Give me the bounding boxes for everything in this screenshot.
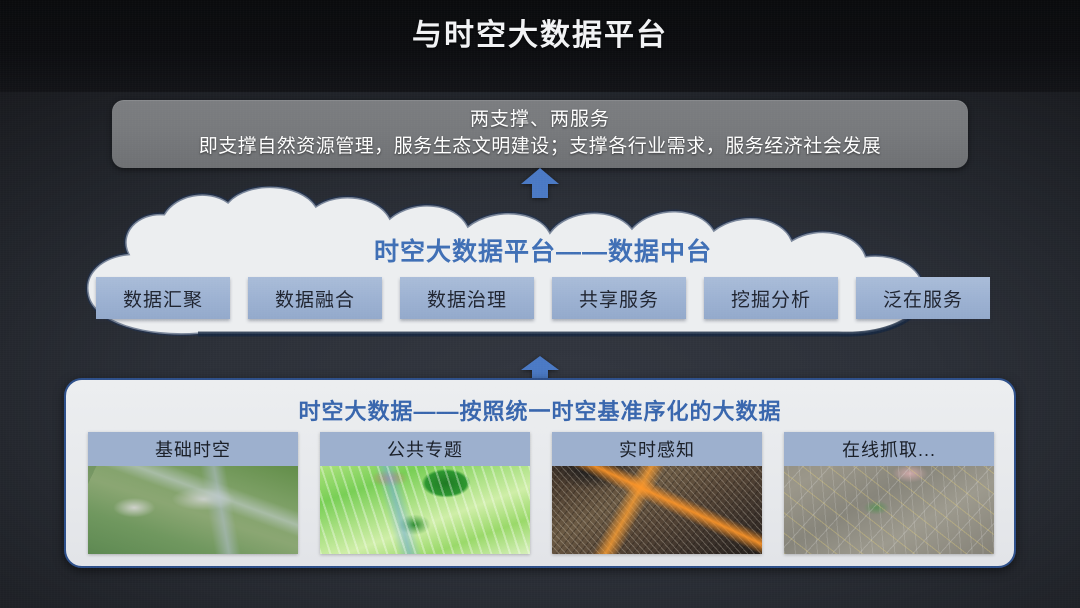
card-label: 实时感知 bbox=[552, 432, 762, 466]
vision-banner: 两支撑、两服务 即支撑自然资源管理，服务生态文明建设；支撑各行业需求，服务经济社… bbox=[112, 100, 968, 168]
chip-label: 挖掘分析 bbox=[731, 285, 811, 312]
chip-label: 数据融合 bbox=[275, 285, 355, 312]
chip-label: 泛在服务 bbox=[883, 285, 963, 312]
card-basic-spatiotemporal[interactable]: 基础时空 bbox=[88, 432, 298, 554]
chip-ubiquitous-service[interactable]: 泛在服务 bbox=[856, 277, 990, 319]
chip-data-fusion[interactable]: 数据融合 bbox=[248, 277, 382, 319]
chip-data-aggregation[interactable]: 数据汇聚 bbox=[96, 277, 230, 319]
card-realtime-sensing[interactable]: 实时感知 bbox=[552, 432, 762, 554]
chip-label: 数据治理 bbox=[427, 285, 507, 312]
chip-shared-service[interactable]: 共享服务 bbox=[552, 277, 686, 319]
panel-title: 时空大数据——按照统一时空基准序化的大数据 bbox=[66, 394, 1014, 426]
chip-mining-analysis[interactable]: 挖掘分析 bbox=[704, 277, 838, 319]
card-label: 公共专题 bbox=[320, 432, 530, 466]
slide-canvas: 与时空大数据平台 两支撑、两服务 即支撑自然资源管理，服务生态文明建设；支撑各行… bbox=[0, 0, 1080, 608]
big-data-panel: 时空大数据——按照统一时空基准序化的大数据 基础时空 公共专题 实时感知 在线抓… bbox=[64, 378, 1016, 568]
page-title: 与时空大数据平台 bbox=[0, 10, 1080, 54]
capability-chip-row: 数据汇聚 数据融合 数据治理 共享服务 挖掘分析 泛在服务 bbox=[48, 276, 1038, 320]
cloud-title: 时空大数据平台——数据中台 bbox=[48, 232, 1038, 268]
card-label: 在线抓取... bbox=[784, 432, 994, 466]
chip-label: 数据汇聚 bbox=[123, 285, 203, 312]
chip-label: 共享服务 bbox=[579, 285, 659, 312]
data-source-card-list: 基础时空 公共专题 实时感知 在线抓取... bbox=[88, 432, 994, 554]
vision-banner-line1: 两支撑、两服务 bbox=[470, 107, 610, 133]
card-label: 基础时空 bbox=[88, 432, 298, 466]
card-public-thematic[interactable]: 公共专题 bbox=[320, 432, 530, 554]
card-online-crawl[interactable]: 在线抓取... bbox=[784, 432, 994, 554]
vision-banner-line2: 即支撑自然资源管理，服务生态文明建设；支撑各行业需求，服务经济社会发展 bbox=[199, 133, 882, 161]
chip-data-governance[interactable]: 数据治理 bbox=[400, 277, 534, 319]
data-platform-cloud: 时空大数据平台——数据中台 数据汇聚 数据融合 数据治理 共享服务 挖掘分析 泛… bbox=[48, 186, 1038, 346]
